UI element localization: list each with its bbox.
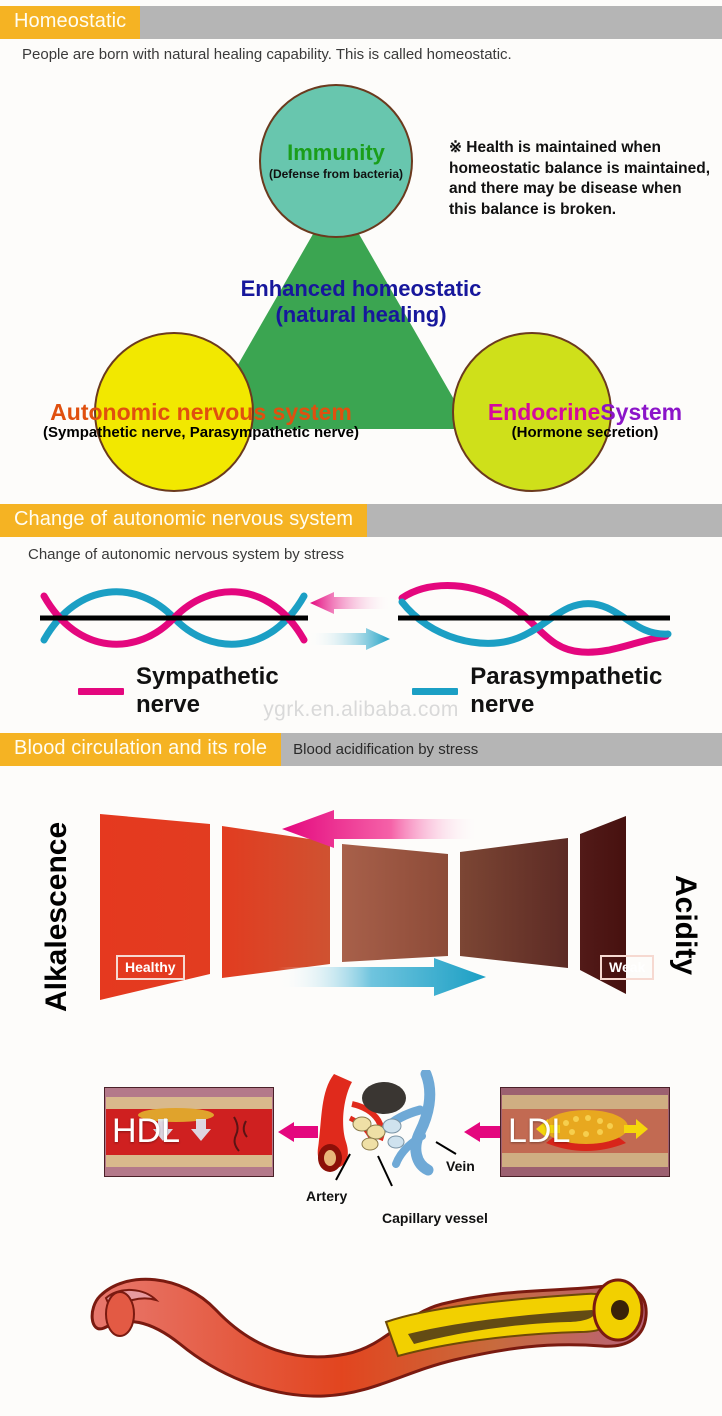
endocrine-title: EndocrineSystem (440, 400, 722, 425)
legend-swatch-sympathetic (78, 688, 124, 695)
ldl-label: LDL (508, 1112, 570, 1151)
residual-lumen (611, 1300, 629, 1320)
axis-label-acidity: Acidity (668, 840, 702, 1010)
wave-balanced (38, 578, 310, 658)
autonomic-title: Autonomic nervous system (0, 400, 406, 425)
vein-shape (416, 1074, 430, 1170)
arrow-acidification-left (280, 810, 480, 848)
immunity-subtitle: (Defense from bacteria) (269, 167, 403, 181)
annotation-vein: Vein (446, 1158, 475, 1174)
homeostatic-note: ※ Health is maintained when homeostatic … (449, 138, 711, 220)
blood-circulation-diagram: Alkalescence Acidity Healthy Weak (0, 730, 722, 1416)
watermark: ygrk.en.alibaba.com (0, 698, 722, 722)
center-line-1: Enhanced homeostatic (0, 276, 722, 302)
endocrine-label-group: EndocrineSystem (Hormone secretion) (440, 400, 722, 442)
legend-swatch-parasympathetic (412, 688, 458, 695)
autonomic-subtitle: (Sympathetic nerve, Parasympathetic nerv… (0, 425, 406, 442)
wave-disrupted (396, 578, 672, 658)
endocrine-subtitle: (Hormone secretion) (440, 425, 722, 442)
badge-weak: Weak (600, 955, 654, 980)
annotation-artery: Artery (306, 1188, 347, 1204)
panel-4 (460, 838, 568, 968)
cutaway-artery-illustration (86, 1252, 666, 1402)
hdl-label: HDL (112, 1112, 180, 1151)
section-header-homeostatic: Homeostatic (0, 6, 722, 39)
badge-healthy: Healthy (116, 955, 185, 980)
triangle-center-label: Enhanced homeostatic (natural healing) (0, 276, 722, 328)
arrow-left-pink (308, 592, 392, 614)
organ-mass (362, 1082, 406, 1114)
panel-2 (222, 826, 330, 978)
immunity-title: Immunity (287, 141, 385, 164)
arrow-right-blue (308, 628, 392, 650)
homeostatic-diagram: Enhanced homeostatic (natural healing) I… (0, 44, 722, 494)
panel-3 (342, 844, 448, 962)
axis-label-alkalescence: Alkalescence (40, 822, 74, 1012)
circle-immunity: Immunity (Defense from bacteria) (259, 84, 413, 238)
autonomic-wave-diagram: Sympathetic nerve Parasympathetic nerve … (0, 500, 722, 725)
endocrine-title-part1: Endocrine (488, 399, 600, 425)
arrow-acidification-right (278, 958, 488, 996)
section-tab-label: Homeostatic (0, 6, 140, 39)
annotation-capillary-vessel: Capillary vessel (382, 1210, 488, 1226)
autonomic-label-group: Autonomic nervous system (Sympathetic ne… (0, 400, 406, 442)
center-line-2: (natural healing) (0, 302, 722, 328)
endocrine-title-part2: System (600, 399, 682, 425)
